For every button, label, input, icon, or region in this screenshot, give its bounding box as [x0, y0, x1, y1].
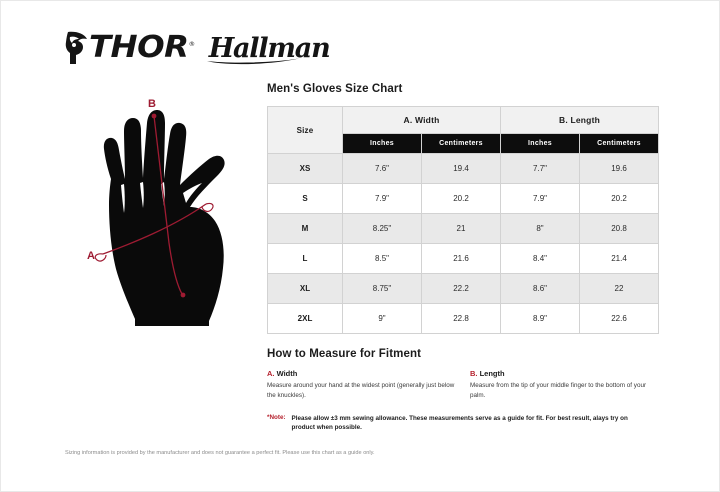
cell-length-cm: 22	[580, 274, 659, 304]
note-label: *Note:	[267, 414, 286, 421]
brand-logo-bar: THOR® Hallman	[65, 31, 330, 65]
table-row: S 7.9" 20.2 7.9" 20.2	[268, 184, 659, 214]
cell-length-in: 7.9"	[501, 184, 580, 214]
width-marker: A.	[267, 369, 275, 378]
how-to-measure-columns: A. Width Measure around your hand at the…	[267, 369, 659, 401]
col-header-length-inches: Inches	[501, 134, 580, 154]
table-row: XS 7.6" 19.4 7.7" 19.6	[268, 154, 659, 184]
cell-width-in: 8.25"	[343, 214, 422, 244]
how-to-length-text: Measure from the tip of your middle fing…	[470, 381, 659, 401]
cell-width-in: 7.9"	[343, 184, 422, 214]
cell-length-cm: 21.4	[580, 244, 659, 274]
hallman-swash-icon	[205, 56, 301, 65]
hallman-logo: Hallman	[209, 35, 330, 62]
table-row: M 8.25" 21 8" 20.8	[268, 214, 659, 244]
marker-b-bottom	[181, 293, 186, 298]
col-header-size: Size	[268, 107, 343, 154]
cell-width-cm: 22.8	[422, 304, 501, 334]
table-header-row-groups: Size A. Width B. Length	[268, 107, 659, 134]
cell-width-cm: 22.2	[422, 274, 501, 304]
thor-helmet-icon	[65, 31, 91, 65]
table-row: 2XL 9" 22.8 8.9" 22.6	[268, 304, 659, 334]
how-to-measure-section: How to Measure for Fitment A. Width Meas…	[267, 348, 659, 433]
how-to-width-text: Measure around your hand at the widest p…	[267, 381, 458, 401]
table-body: XS 7.6" 19.4 7.7" 19.6 S 7.9" 20.2 7.9" …	[268, 154, 659, 334]
cell-width-in: 8.5"	[343, 244, 422, 274]
note-text: Please allow ±3 mm sewing allowance. The…	[292, 414, 642, 434]
thor-logo: THOR®	[65, 31, 187, 65]
cell-length-in: 7.7"	[501, 154, 580, 184]
cell-width-in: 7.6"	[343, 154, 422, 184]
cell-size: XS	[268, 154, 343, 184]
col-header-width-centimeters: Centimeters	[422, 134, 501, 154]
cell-length-cm: 22.6	[580, 304, 659, 334]
how-to-length-block: B. Length Measure from the tip of your m…	[470, 369, 659, 401]
thor-wordmark: THOR®	[89, 33, 195, 63]
chart-column: Men's Gloves Size Chart Size A. Width B.…	[267, 83, 659, 433]
col-header-length-centimeters: Centimeters	[580, 134, 659, 154]
cell-width-cm: 20.2	[422, 184, 501, 214]
label-b: B	[148, 98, 156, 110]
how-to-width-heading: A. Width	[267, 369, 458, 378]
table-header: Size A. Width B. Length Inches Centimete…	[268, 107, 659, 154]
cell-size: 2XL	[268, 304, 343, 334]
table-row: XL 8.75" 22.2 8.6" 22	[268, 274, 659, 304]
note-row: *Note: Please allow ±3 mm sewing allowan…	[267, 414, 659, 434]
hand-silhouette	[104, 110, 225, 326]
cell-width-in: 9"	[343, 304, 422, 334]
chart-title: Men's Gloves Size Chart	[267, 83, 659, 95]
size-chart-page: THOR® Hallman	[0, 0, 720, 492]
cell-length-cm: 20.8	[580, 214, 659, 244]
length-marker: B.	[470, 369, 478, 378]
col-header-width-group: A. Width	[343, 107, 501, 134]
cell-width-in: 8.75"	[343, 274, 422, 304]
footer-disclaimer: Sizing information is provided by the ma…	[65, 449, 405, 458]
cell-length-cm: 19.6	[580, 154, 659, 184]
cell-size: XL	[268, 274, 343, 304]
table-row: L 8.5" 21.6 8.4" 21.4	[268, 244, 659, 274]
cell-width-cm: 21	[422, 214, 501, 244]
how-to-length-heading: B. Length	[470, 369, 659, 378]
size-chart-table: Size A. Width B. Length Inches Centimete…	[267, 106, 659, 334]
cell-size: S	[268, 184, 343, 214]
marker-b-top	[152, 114, 157, 119]
how-to-measure-title: How to Measure for Fitment	[267, 348, 659, 360]
how-to-width-block: A. Width Measure around your hand at the…	[267, 369, 470, 401]
thor-trademark: ®	[189, 41, 195, 48]
hand-diagram-svg: A B	[63, 93, 268, 328]
col-header-width-inches: Inches	[343, 134, 422, 154]
hand-measurement-diagram: A B	[63, 93, 268, 328]
cell-length-in: 8.9"	[501, 304, 580, 334]
cell-length-in: 8"	[501, 214, 580, 244]
cell-width-cm: 19.4	[422, 154, 501, 184]
cell-size: L	[268, 244, 343, 274]
col-header-length-group: B. Length	[501, 107, 659, 134]
cell-length-in: 8.6"	[501, 274, 580, 304]
width-label: Width	[275, 369, 298, 378]
cell-size: M	[268, 214, 343, 244]
cell-length-cm: 20.2	[580, 184, 659, 214]
cell-length-in: 8.4"	[501, 244, 580, 274]
length-label: Length	[478, 369, 505, 378]
label-a: A	[87, 250, 95, 262]
cell-width-cm: 21.6	[422, 244, 501, 274]
